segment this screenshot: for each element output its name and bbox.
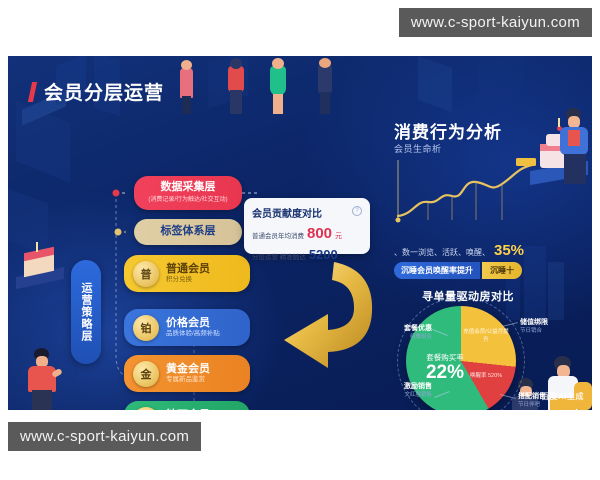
card-tier-price[interactable]: 铂 价格会员 品质体验/高频补贴	[124, 309, 250, 346]
gold-arrow-icon	[276, 256, 386, 374]
card-tier-price-sub: 品质体验/高频补贴	[166, 330, 220, 338]
pie-annotation-left-top: 套餐优惠 组餐组合	[386, 324, 432, 342]
growth-stat: 、数一浏览、活跃、唤醒、 35%	[394, 242, 524, 259]
watermark-bottom: www.c-sport-kaiyun.com	[8, 422, 201, 451]
growth-stat-label: 、数一浏览、活跃、唤醒、	[394, 247, 490, 258]
wakeup-pill-label: 沉睡会员唤醒率提升	[394, 262, 480, 279]
infographic-canvas: 会员分层运营 数据采集层 (消费记录/行为触达/社交互动) 标签体系层 普 普通…	[8, 56, 592, 410]
card-tier-ordinary-title: 普通会员	[166, 263, 210, 277]
pie-ann2-sub: 节日伴吧	[518, 402, 574, 410]
growth-stat-value: 35%	[494, 242, 524, 259]
card-tier-gold[interactable]: 金 黄金会员 专属新品鉴赏	[124, 355, 250, 392]
card-data-layer-title: 数据采集层	[161, 181, 216, 195]
card-tier-price-title: 价格会员	[166, 317, 220, 331]
wakeup-pill-badge: 沉睡十	[480, 262, 522, 279]
watermark-top: www.c-sport-kaiyun.com	[399, 8, 592, 37]
pie-annotation-right-top: 储值绑限 节日销合	[520, 318, 576, 336]
wakeup-rate-pill[interactable]: 沉睡会员唤醒率提升 沉睡十	[394, 262, 522, 279]
card-tier-gold-title: 黄金会员	[166, 363, 210, 377]
help-icon[interactable]: ?	[352, 206, 362, 216]
callout-row1-unit: 元	[335, 231, 342, 241]
screenshot-root: www.c-sport-kaiyun.com www.c-sport-kaiyu…	[0, 0, 600, 480]
pie-ann1-name: 储值绑限	[520, 318, 576, 328]
title-text: 会员分层运营	[44, 78, 164, 105]
card-data-layer[interactable]: 数据采集层 (消费记录/行为触达/社交互动)	[134, 176, 242, 210]
card-tag-layer[interactable]: 标签体系层	[134, 219, 242, 245]
title-accent-bar	[28, 82, 37, 102]
card-tier-diamond-title: 钻石会员	[166, 409, 210, 410]
contribution-callout: 会员贡献度对比 ? 普通会员年均消费 800 元 分层运营 精准触达 5200	[244, 198, 370, 254]
pie-ann0-sub: 组餐组合	[386, 334, 432, 342]
pie-label-gold: 充值会员/公益月提升	[462, 328, 510, 345]
pie-ann3-name: 激励销售	[382, 382, 432, 392]
badge-price-icon: 铂	[133, 315, 159, 341]
badge-diamond-icon: 钻	[133, 407, 159, 411]
pie-ann3-sub: 文红脸销售	[382, 392, 432, 400]
pie-ann0-name: 套餐优惠	[386, 324, 432, 334]
card-data-layer-sub: (消费记录/行为触达/社交互动)	[148, 197, 227, 205]
card-tier-gold-sub: 专属新品鉴赏	[166, 376, 210, 384]
ai-watermark: 百度AI生成	[541, 391, 584, 402]
badge-ordinary-icon: 普	[133, 261, 159, 287]
callout-title: 会员贡献度对比	[252, 205, 362, 220]
strategy-layer-pill: 运营策略层	[71, 260, 101, 364]
pie-annotation-left-bottom: 激励销售 文红脸销售	[382, 382, 432, 400]
callout-row-1: 普通会员年均消费 800 元	[252, 225, 362, 242]
badge-gold-icon: 金	[133, 361, 159, 387]
line-chart	[390, 156, 538, 230]
callout-row1-label: 普通会员年均消费	[252, 230, 304, 240]
pie-ann1-sub: 节日销合	[520, 328, 576, 336]
card-tag-layer-title: 标签体系层	[161, 225, 216, 239]
card-tier-ordinary[interactable]: 普 普通会员 积分兑换	[124, 255, 250, 292]
right-panel-subtitle: 会员生命析	[394, 142, 442, 155]
right-panel-title: 消费行为分析	[394, 118, 502, 143]
infographic-title: 会员分层运营	[30, 78, 164, 105]
callout-row1-value: 800	[307, 225, 332, 242]
card-tier-ordinary-sub: 积分兑换	[166, 276, 210, 284]
pie-label-red: 唤醒率 520%	[466, 372, 506, 380]
card-tier-diamond[interactable]: 钻 钻石会员 一对客户经理	[124, 401, 250, 410]
